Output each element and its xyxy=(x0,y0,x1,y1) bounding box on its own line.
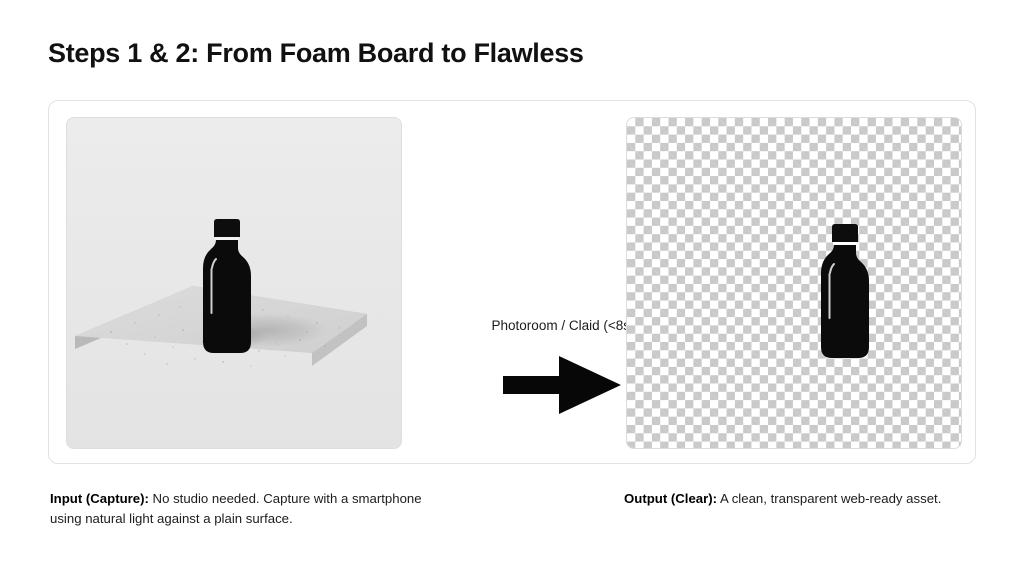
comparison-card: Photoroom / Claid (<8s) xyxy=(48,100,976,464)
output-clear-image xyxy=(626,117,962,449)
transform-label: Photoroom / Claid (<8s) xyxy=(479,318,647,333)
input-capture-image xyxy=(66,117,402,449)
slide-root: Steps 1 & 2: From Foam Board to Flawless xyxy=(0,0,1024,571)
input-caption-label: Input (Capture): xyxy=(50,491,149,506)
bottle-icon xyxy=(811,223,879,363)
input-caption: Input (Capture): No studio needed. Captu… xyxy=(50,489,430,530)
output-caption-label: Output (Clear): xyxy=(624,491,717,506)
page-title: Steps 1 & 2: From Foam Board to Flawless xyxy=(48,38,584,69)
output-caption: Output (Clear): A clean, transparent web… xyxy=(624,489,984,509)
bottle-icon xyxy=(193,218,261,358)
arrow-right-icon xyxy=(501,354,623,416)
foam-board-scene xyxy=(67,118,401,448)
output-caption-text: A clean, transparent web-ready asset. xyxy=(717,491,941,506)
